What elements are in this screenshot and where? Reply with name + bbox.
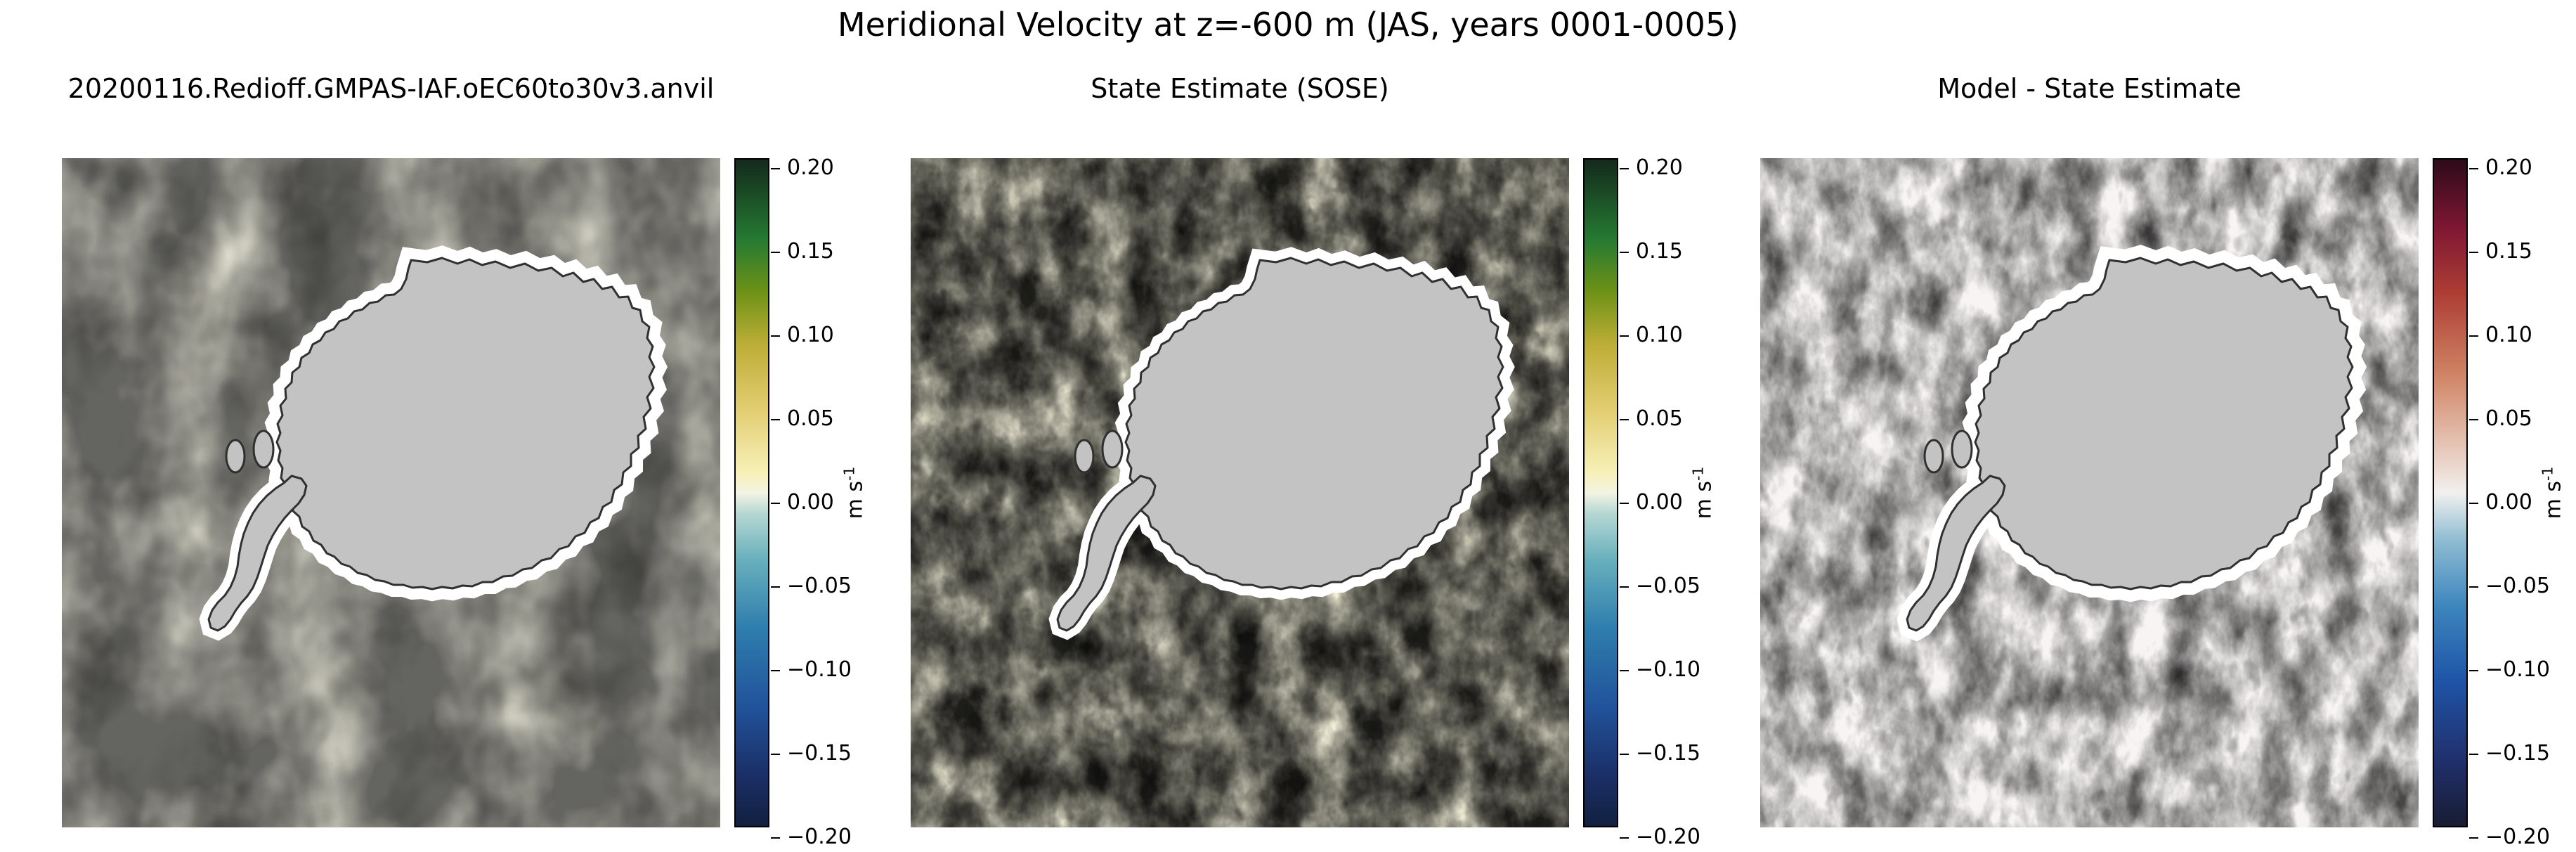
tick-label: −0.10 [2485,659,2550,680]
tick-label: 0.20 [787,157,834,179]
tick-line [771,419,780,420]
tick-line [2469,168,2478,169]
map-model[interactable] [62,158,720,827]
tick-label: 0.15 [1636,241,1683,262]
tick-line [2469,837,2478,839]
tick-label: 0.05 [787,408,834,430]
tick-line [771,503,780,504]
panel-title-difference: Model - State Estimate [1760,73,2419,104]
panel-difference: Model - State Estimate [1760,0,2575,852]
colorbar-unit-base: m s [2542,481,2566,519]
tick-line [2469,754,2478,755]
tick-label: −0.05 [787,576,852,597]
colorbar-model: 0.20 0.15 0.10 0.05 0.00 −0.05 −0.10 −0.… [734,158,903,827]
tick-line [1620,754,1629,755]
tick-label: −0.15 [2485,743,2550,764]
colorbar-axis-label-model: m s-1 [843,467,868,519]
tick-label: 0.05 [2485,408,2532,430]
panel-title-state-estimate: State Estimate (SOSE) [911,73,1569,104]
panel-state-estimate: State Estimate (SOSE) [911,0,1719,852]
colorbar-axis-label-state-estimate: m s-1 [1692,467,1717,519]
figure-canvas: Meridional Velocity at z=-600 m (JAS, ye… [0,0,2576,852]
tick-line [2469,252,2478,253]
colorbar-gradient-difference [2433,158,2468,827]
map-svg-state-estimate [911,158,1569,827]
colorbar-state-estimate: 0.20 0.15 0.10 0.05 0.00 −0.05 −0.10 −0.… [1583,158,1752,827]
tick-label: −0.05 [1636,576,1700,597]
tick-label: 0.00 [2485,492,2532,513]
colorbar-unit-exponent: -1 [2539,467,2556,481]
tick-label: 0.00 [787,492,834,513]
tick-line [1620,419,1629,420]
tick-line [2469,335,2478,337]
colorbar-unit-exponent: -1 [1690,467,1707,481]
tick-label: 0.10 [787,325,834,346]
tick-label: 0.15 [2485,241,2532,262]
tick-line [771,670,780,671]
tick-label: 0.00 [1636,492,1683,513]
tick-line [1620,335,1629,337]
tick-label: −0.05 [2485,576,2550,597]
panel-title-model: 20200116.Redioff.GMPAS-IAF.oEC60to30v3.a… [62,73,720,104]
tick-line [771,837,780,839]
tick-label: −0.20 [2485,827,2550,848]
tick-label: 0.20 [1636,157,1683,179]
tick-line [2469,503,2478,504]
tick-line [1620,503,1629,504]
tick-label: 0.15 [787,241,834,262]
colorbar-gradient-state-estimate [1583,158,1618,827]
tick-label: −0.15 [787,743,852,764]
tick-label: 0.05 [1636,408,1683,430]
tick-line [1620,168,1629,169]
tick-line [771,754,780,755]
panel-model: 20200116.Redioff.GMPAS-IAF.oEC60to30v3.a… [62,0,870,852]
colorbar-ticks-state-estimate: 0.20 0.15 0.10 0.05 0.00 −0.05 −0.10 −0.… [1620,158,1753,827]
map-svg-model [62,158,720,827]
colorbar-gradient-model [734,158,769,827]
colorbar-unit-base: m s [1692,481,1717,519]
map-svg-difference [1760,158,2419,827]
map-difference[interactable] [1760,158,2419,827]
tick-line [2469,419,2478,420]
colorbar-difference: 0.20 0.15 0.10 0.05 0.00 −0.05 −0.10 −0.… [2433,158,2576,827]
tick-label: −0.20 [787,827,852,848]
tick-label: −0.10 [787,659,852,680]
tick-line [771,335,780,337]
colorbar-ticks-model: 0.20 0.15 0.10 0.05 0.00 −0.05 −0.10 −0.… [771,158,904,827]
colorbar-axis-label-difference: m s-1 [2542,467,2566,519]
tick-line [2469,586,2478,588]
tick-line [771,252,780,253]
tick-line [1620,837,1629,839]
tick-label: −0.20 [1636,827,1700,848]
tick-line [771,586,780,588]
tick-line [771,168,780,169]
tick-line [2469,670,2478,671]
tick-label: 0.20 [2485,157,2532,179]
tick-line [1620,252,1629,253]
tick-line [1620,586,1629,588]
tick-label: 0.10 [1636,325,1683,346]
colorbar-unit-exponent: -1 [841,467,858,481]
tick-line [1620,670,1629,671]
tick-label: 0.10 [2485,325,2532,346]
map-state-estimate[interactable] [911,158,1569,827]
colorbar-unit-base: m s [843,481,868,519]
tick-label: −0.10 [1636,659,1700,680]
tick-label: −0.15 [1636,743,1700,764]
